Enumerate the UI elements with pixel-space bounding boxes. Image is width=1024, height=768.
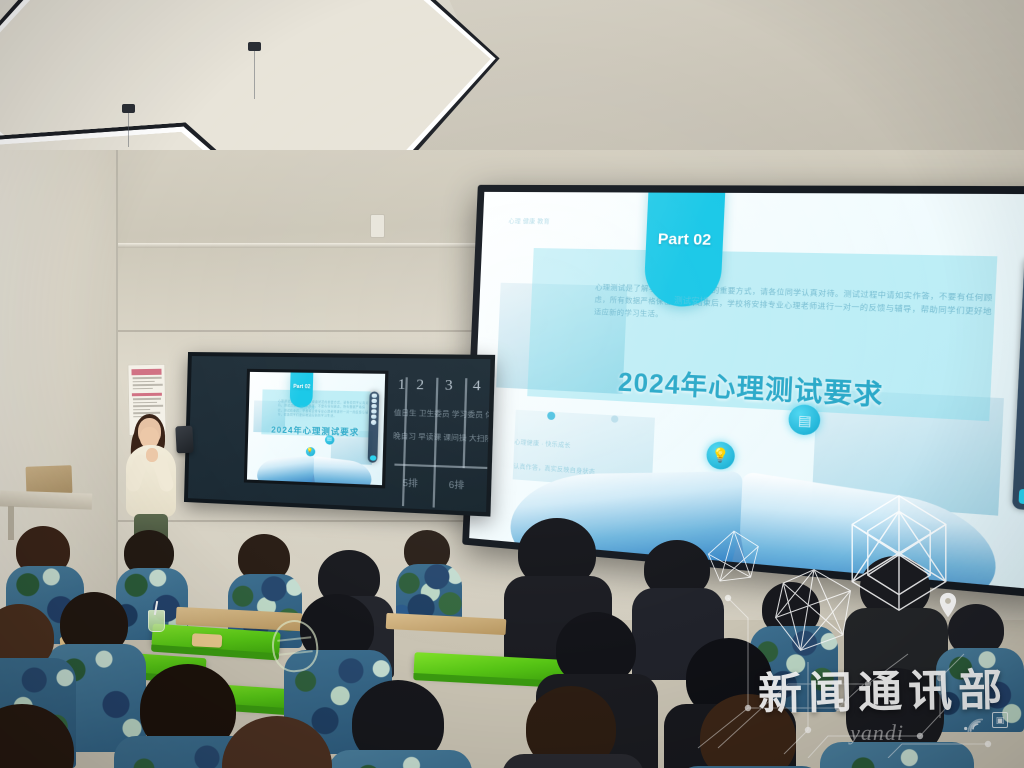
part-badge-label: Part 02 [657, 230, 711, 249]
part-badge: Part 02 [643, 192, 725, 308]
photo-scene: 心理 健康 教育 心理测试是了解学生心理健康状况的重要方式，请各位同学认真对待。… [0, 0, 1024, 768]
slide-title-mirror: 2024年心理测试要求 [263, 424, 369, 438]
ceiling-wire [128, 113, 129, 147]
chalk-bottom-note: 6排 [449, 478, 465, 492]
drink-cup [148, 610, 165, 632]
chalk-divider [394, 464, 494, 469]
students-seated [0, 508, 1024, 768]
lightbulb-glyph-mirror: 💡 [307, 449, 314, 454]
chalk-row-note: 值日生 卫生委员 学习委员 体育委员 [394, 409, 496, 422]
lightbulb-glyph: 💡 [711, 448, 729, 463]
chalk-divider [463, 378, 467, 468]
ceiling-wire [254, 51, 255, 99]
annotate-icon-mirror [371, 414, 376, 418]
desk [386, 613, 507, 635]
toolbar-drag-handle[interactable] [1019, 489, 1024, 505]
slide-header-faint: 心理 健康 教育 [508, 216, 550, 226]
chalk-column-number: 4 [473, 378, 481, 395]
part-subtitle-mirror: 测试安排 [290, 405, 325, 411]
toolbar-drag-handle-mirror[interactable] [369, 455, 376, 460]
resources-icon-mirror [371, 404, 376, 408]
part-badge-label-mirror: Part 02 [293, 384, 310, 390]
ceiling-sensor-icon [248, 42, 261, 51]
class-tools-icon-mirror [371, 409, 376, 413]
document-glyph: ▤ [798, 413, 813, 428]
mirrored-display[interactable]: 心理测试是了解学生心理健康状况的重要方式，请各位同学认真对待。测试过程中请如实作… [244, 369, 389, 489]
document-icon-mirror: ▤ [325, 435, 335, 445]
wall-sensor-icon [370, 214, 385, 238]
ceiling-sensor-icon [122, 104, 135, 113]
slide-bullet-dot [547, 411, 555, 420]
screen-toolbar-mirror[interactable] [368, 391, 380, 462]
chalk-row-note: 晚自习 早读课 课间操 大扫除 [393, 432, 493, 445]
chalk-bottom-note: 5排 [402, 477, 418, 490]
blackboard: 心理测试是了解学生心理健康状况的重要方式，请各位同学认真对待。测试过程中请如实作… [184, 352, 495, 517]
open-book-illustration-mirror [257, 456, 371, 485]
presentation-slide-mirror: 心理测试是了解学生心理健康状况的重要方式，请各位同学认真对待。测试过程中请如实作… [247, 372, 385, 485]
chalk-column-number: 2 [416, 377, 424, 394]
chalk-column-number: 3 [445, 378, 453, 395]
chalk-column-number: 1 [398, 377, 406, 394]
lightbulb-icon: 💡 [706, 440, 735, 469]
more-icon-mirror [371, 420, 376, 425]
whiteboard-icon-mirror [371, 399, 376, 403]
pencil-icon-mirror [372, 393, 377, 397]
food-item [192, 633, 223, 648]
slide-bullet-dot [611, 415, 619, 423]
lightbulb-icon-mirror: 💡 [305, 446, 315, 456]
storage-box [26, 465, 73, 495]
part-badge-mirror: Part 02 [290, 372, 314, 408]
document-glyph-mirror: ▤ [327, 437, 332, 442]
